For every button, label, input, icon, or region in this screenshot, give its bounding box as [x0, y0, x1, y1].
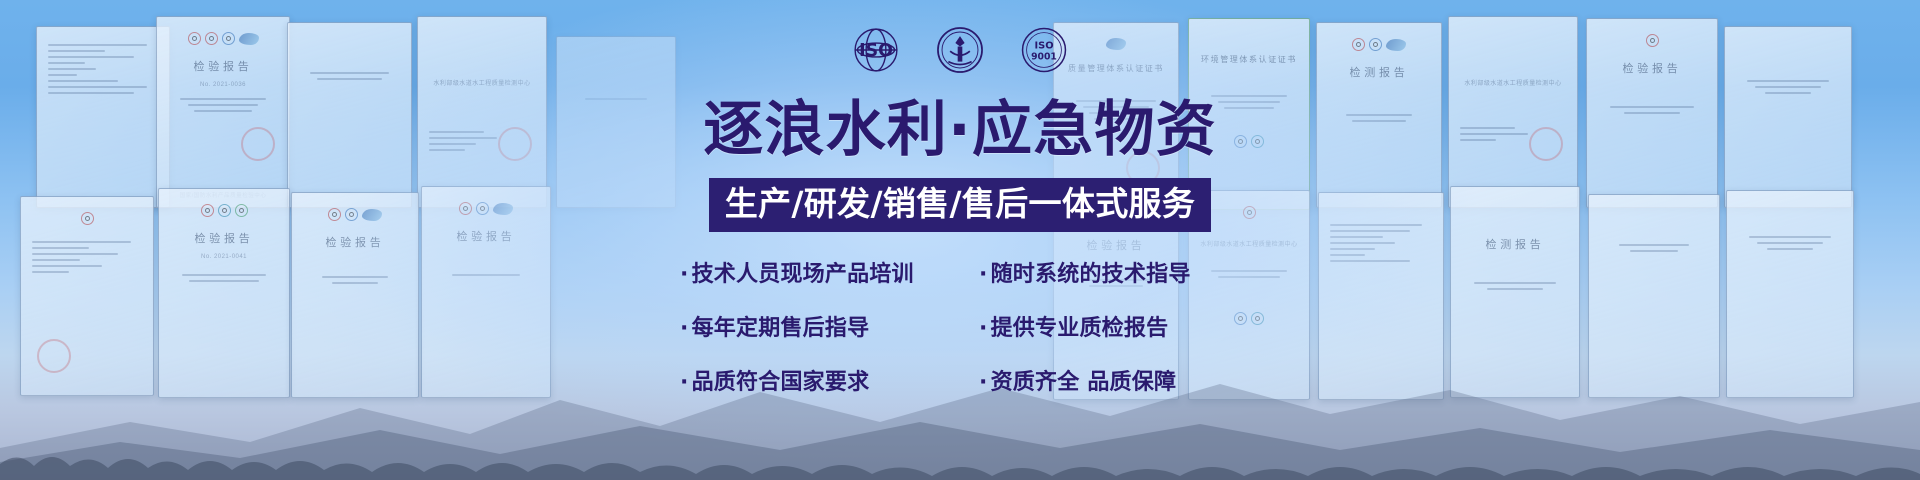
inspection-seal-icon: [218, 204, 231, 217]
list-item: ·每年定期售后指导: [680, 310, 955, 342]
cert-text-line: [452, 274, 520, 276]
ccc-seal-icon: [201, 204, 214, 217]
cert-text-line: [1487, 288, 1542, 290]
quality-seal-icon: [1369, 38, 1382, 51]
cert-text-line: [429, 131, 484, 133]
quality-seal-icon: [345, 208, 358, 221]
list-item: ·随时系统的技术指导: [965, 256, 1240, 288]
cert-subtitle: No. 2021-0041: [170, 254, 278, 260]
certificate-card: 检验报告 No. 2021-0036 国家/国防水利产品质量检验中心: [156, 16, 290, 208]
china-quality-seal-logo-icon: [931, 21, 989, 84]
iso-globe-logo-icon: ISO: [847, 21, 905, 84]
bullet-dot-icon: ·: [680, 316, 689, 341]
swoosh-logo-icon: [1386, 39, 1406, 51]
cert-seal-row: [433, 202, 539, 215]
subtitle-banner: 生产/研发/销售/售后一体式服务: [709, 178, 1211, 232]
cert-text-line: [48, 44, 147, 46]
cert-text-line: [332, 282, 378, 284]
page-title: 逐浪水利·应急物资: [610, 100, 1310, 160]
cert-text-line: [1624, 112, 1680, 114]
inspection-seal-icon: [222, 32, 235, 45]
cert-text-line: [1460, 133, 1528, 135]
cert-text-line: [1330, 242, 1395, 244]
ccc-seal-icon: [459, 202, 472, 215]
cert-text-line: [32, 247, 89, 249]
cert-text-line: [1747, 80, 1828, 82]
cert-text-line: [429, 143, 476, 145]
cert-subtitle: No. 2021-0036: [168, 82, 278, 88]
list-item-label: 每年定期售后指导: [692, 316, 870, 341]
env-seal-icon: [235, 204, 248, 217]
ccc-seal-icon: [1646, 34, 1659, 47]
swoosh-logo-icon: [362, 209, 382, 221]
certification-logo-row: ISO ISO 9001: [610, 0, 1310, 78]
cert-seal-row: [1598, 34, 1706, 47]
cert-subtitle: 水利部级水道水工程质量检测中心: [429, 78, 535, 87]
banner-content: ISO ISO 9001: [610, 0, 1310, 480]
cert-text-line: [189, 280, 258, 282]
feature-bullet-list: ·技术人员现场产品培训 ·随时系统的技术指导 ·每年定期售后指导 ·提供专业质检…: [680, 256, 1240, 396]
cert-text-line: [1330, 236, 1383, 238]
cert-text-line: [310, 72, 389, 74]
list-item: ·技术人员现场产品培训: [680, 256, 955, 288]
cert-text-line: [182, 274, 266, 276]
list-item-label: 提供专业质检报告: [991, 316, 1169, 341]
cert-title: 检测报告: [1462, 236, 1568, 252]
cert-text-line: [194, 110, 251, 112]
cert-text-line: [32, 253, 118, 255]
cert-text-line: [32, 241, 131, 243]
swoosh-logo-icon: [239, 33, 259, 45]
cert-text-line: [48, 62, 85, 64]
quality-seal-icon: [205, 32, 218, 45]
bullet-dot-icon: ·: [979, 262, 988, 287]
list-item-label: 资质齐全 品质保障: [991, 370, 1177, 395]
cert-text-line: [48, 92, 134, 94]
cert-title: 检验报告: [433, 228, 539, 244]
cert-text-line: [1330, 230, 1410, 232]
cert-text-line: [1474, 282, 1557, 284]
svg-text:ISO: ISO: [859, 40, 893, 60]
cert-title: 检测报告: [1328, 64, 1430, 80]
certificate-card: 水利部级水道水工程质量检测中心: [1448, 16, 1578, 208]
list-item-label: 技术人员现场产品培训: [692, 262, 914, 287]
cert-seal-row: [168, 32, 278, 45]
certificate-card: [36, 26, 170, 208]
cert-text-line: [1765, 92, 1811, 94]
cert-text-line: [188, 104, 258, 106]
cert-text-line: [48, 74, 77, 76]
bullet-dot-icon: ·: [979, 316, 988, 341]
certificate-card: [287, 22, 412, 208]
bullet-dot-icon: ·: [680, 262, 689, 287]
svg-text:ISO: ISO: [1034, 40, 1053, 51]
cert-seal-row: [1328, 38, 1430, 51]
cert-text-line: [48, 68, 96, 70]
cert-text-line: [48, 56, 134, 58]
list-item: ·品质符合国家要求: [680, 364, 955, 396]
cert-text-line: [429, 149, 465, 151]
red-stamp-icon: [241, 127, 275, 161]
list-item: ·资质齐全 品质保障: [965, 364, 1240, 396]
cert-text-line: [1460, 127, 1515, 129]
ccc-seal-icon: [328, 208, 341, 221]
bullet-dot-icon: ·: [680, 370, 689, 395]
bullet-dot-icon: ·: [979, 370, 988, 395]
cert-title: 检验报告: [168, 58, 278, 74]
promotional-banner: 检验报告 No. 2021-0036 国家/国防水利产品质量检验中心 水利部级水…: [0, 0, 1920, 480]
cert-text-line: [1610, 106, 1694, 108]
cert-text-line: [1460, 139, 1496, 141]
cert-text-line: [48, 50, 105, 52]
cert-text-line: [1330, 224, 1422, 226]
cert-text-line: [1346, 114, 1411, 116]
swoosh-logo-icon: [493, 203, 513, 215]
list-item-label: 品质符合国家要求: [692, 370, 870, 395]
cert-subtitle: 水利部级水道水工程质量检测中心: [1460, 78, 1566, 87]
cert-text-line: [1619, 244, 1688, 246]
cert-text-line: [1330, 248, 1375, 250]
cert-text-line: [32, 259, 80, 261]
cert-text-line: [1352, 120, 1405, 122]
cert-text-line: [1330, 260, 1410, 262]
cert-text-line: [48, 80, 118, 82]
cert-text-line: [32, 271, 69, 273]
cert-text-line: [1755, 86, 1822, 88]
certificate-card: [1724, 26, 1852, 208]
cert-text-line: [1630, 250, 1678, 252]
cert-text-line: [322, 276, 389, 278]
red-stamp-icon: [1529, 127, 1563, 161]
cert-text-line: [180, 98, 266, 100]
cert-text-line: [48, 86, 147, 88]
list-item: ·提供专业质检报告: [965, 310, 1240, 342]
cert-text-line: [1749, 236, 1830, 238]
cert-title: 检验报告: [170, 230, 278, 246]
list-item-label: 随时系统的技术指导: [991, 262, 1191, 287]
svg-text:9001: 9001: [1031, 51, 1057, 62]
ccc-seal-icon: [188, 32, 201, 45]
quality-seal-icon: [476, 202, 489, 215]
cert-seal-row: [303, 208, 407, 221]
ccc-seal-icon: [1352, 38, 1365, 51]
certificate-card: 水利部级水道水工程质量检测中心: [417, 16, 547, 208]
red-stamp-icon: [498, 127, 532, 161]
cert-text-line: [32, 265, 102, 267]
certificate-card: 检测报告: [1316, 22, 1442, 208]
cert-text-line: [317, 78, 382, 80]
cert-text-line: [429, 137, 497, 139]
cert-text-line: [1767, 248, 1813, 250]
cert-title: 检验报告: [1598, 60, 1706, 76]
cert-seal-row: [170, 204, 278, 217]
cert-title: 检验报告: [303, 234, 407, 250]
ccc-seal-icon: [81, 212, 94, 225]
cert-text-line: [1757, 242, 1824, 244]
cert-text-line: [1330, 254, 1365, 256]
iso9001-seal-logo-icon: ISO 9001: [1015, 21, 1073, 84]
certificate-card: 检验报告: [1586, 18, 1718, 208]
